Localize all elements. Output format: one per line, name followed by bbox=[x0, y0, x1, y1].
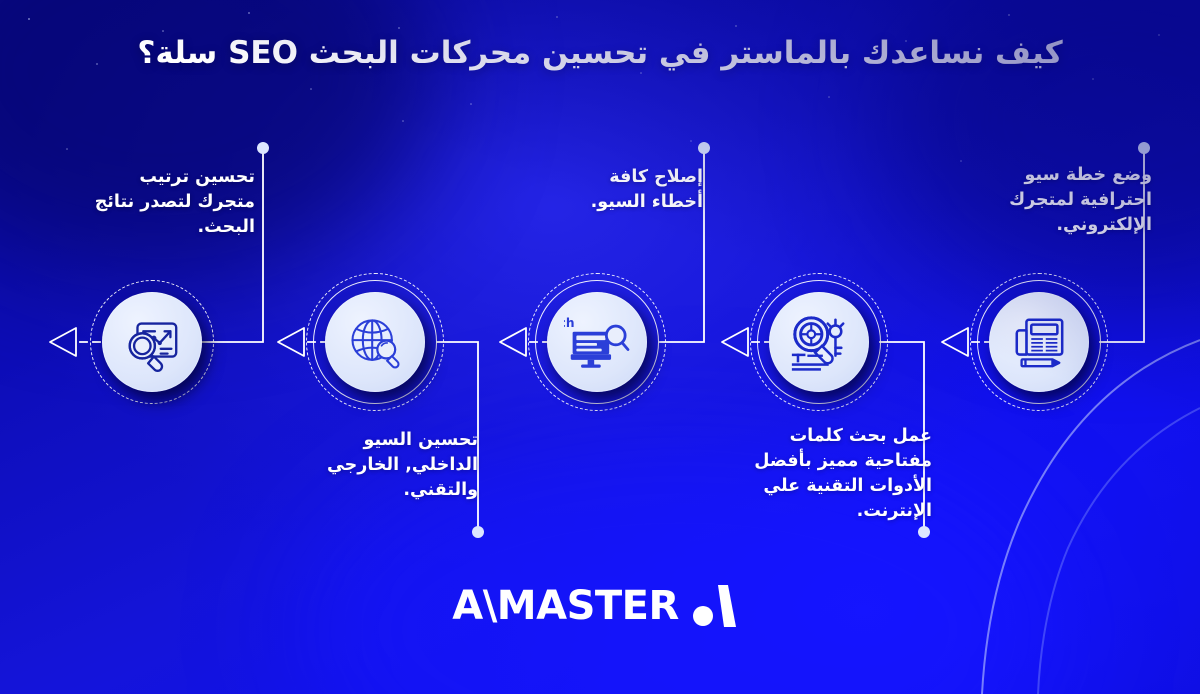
search-monitor-icon: Search bbox=[564, 312, 630, 372]
globe-search-icon bbox=[345, 312, 405, 372]
step-3-label: إصلاح كافة أخطاء السيو. bbox=[558, 165, 703, 215]
step-5-icon-disc bbox=[989, 292, 1089, 392]
step-1-icon-disc bbox=[102, 292, 202, 392]
search-monitor-caption: Search bbox=[564, 316, 575, 330]
step-4-label: عمل بحث كلمات مفتاحية مميز بأفضل الأدوات… bbox=[722, 424, 932, 523]
page-title: كيف نساعدك بالماستر في تحسين محركات البح… bbox=[0, 34, 1200, 73]
step-1-label: تحسين ترتيب متجرك لتصدر نتائج البحث. bbox=[80, 165, 255, 240]
infographic-canvas: كيف نساعدك بالماستر في تحسين محركات البح… bbox=[0, 0, 1200, 694]
brand-wordmark: A\MASTER bbox=[452, 583, 679, 629]
keyword-research-icon bbox=[787, 311, 851, 373]
step-4-icon-disc bbox=[769, 292, 869, 392]
analytics-search-icon bbox=[121, 311, 183, 373]
step-5-label: وضع خطة سيو احترافية لمتجرك الإلكتروني. bbox=[972, 163, 1152, 238]
step-2-label: تحسين السيو الداخلي, الخارجي والتقني. bbox=[293, 428, 478, 503]
step-2-icon-disc bbox=[325, 292, 425, 392]
aimaster-logo-mark bbox=[692, 583, 748, 629]
brand-logo: A\MASTER bbox=[0, 583, 1200, 629]
seo-plan-document-icon bbox=[1008, 313, 1070, 371]
step-3-icon-disc: Search bbox=[547, 292, 647, 392]
